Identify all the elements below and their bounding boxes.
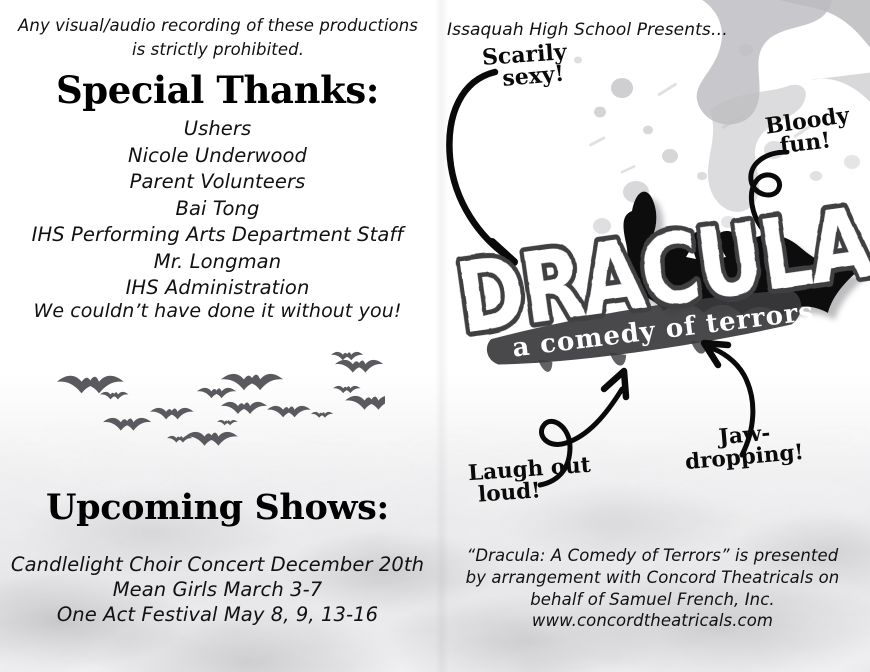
right-page: Issaquah High School Presents… Scarily s… [435,0,870,672]
bat-flock-decoration [45,350,385,465]
list-item: Nicole Underwood [0,143,435,170]
list-item: One Act Festival May 8, 9, 13-16 [0,603,435,628]
list-item: IHS Administration [0,275,435,302]
dracula-wordmark: DRACULA [450,187,870,357]
callout-laugh-out-loud: Laugh out loud! [468,459,591,503]
svg-text:a comedy of terrors: a comedy of terrors [511,297,816,364]
list-item: Bai Tong [0,196,435,223]
callout-bloody-fun: Bloody fun! [765,110,849,155]
upcoming-shows-heading: Upcoming Shows: [0,490,435,525]
program-page: Any visual/audio recording of these prod… [0,0,870,672]
dracula-subtitle: a comedy of terrors [511,297,816,364]
list-item: Candlelight Choir Concert December 20th [0,553,435,578]
arrow-bloody-fun-icon [735,150,825,260]
callout-scarily-sexy: Scarily sexy! [482,44,567,89]
svg-text:DRACULA: DRACULA [450,187,870,357]
arrow-scarily-sexy-icon [440,66,580,276]
recording-notice-line1: Any visual/audio recording of these prod… [18,14,418,38]
list-item: IHS Performing Arts Department Staff [0,222,435,249]
list-item: Parent Volunteers [0,169,435,196]
dracula-logo: DRACULA a comedy of terrors [440,175,870,385]
list-item: Mr. Longman [0,249,435,276]
legal-line: behalf of Samuel French, Inc. [445,589,860,611]
left-page: Any visual/audio recording of these prod… [0,0,435,672]
bat-silhouette [618,192,860,317]
legal-line: “Dracula: A Comedy of Terrors” is presen… [445,545,860,567]
licensing-attribution: “Dracula: A Comedy of Terrors” is presen… [445,545,860,632]
callout-jaw-dropping: Jaw- dropping! [685,425,804,469]
legal-line: by arrangement with Concord Theatricals … [445,567,860,589]
list-item: Ushers [0,116,435,143]
legal-line: www.concordtheatricals.com [445,610,860,632]
callout-line2: loud! [447,478,571,508]
recording-notice: Any visual/audio recording of these prod… [18,14,418,62]
recording-notice-line2: is strictly prohibited. [18,38,418,62]
list-item: Mean Girls March 3-7 [0,578,435,603]
upcoming-shows-list: Candlelight Choir Concert December 20th … [0,553,435,628]
callout-line2: sexy! [490,62,576,92]
special-thanks-list: Ushers Nicole Underwood Parent Volunteer… [0,116,435,302]
thanks-closing-line: We couldn’t have done it without you! [0,300,435,322]
special-thanks-heading: Special Thanks: [0,72,435,109]
presents-line: Issaquah High School Presents… [447,20,728,40]
